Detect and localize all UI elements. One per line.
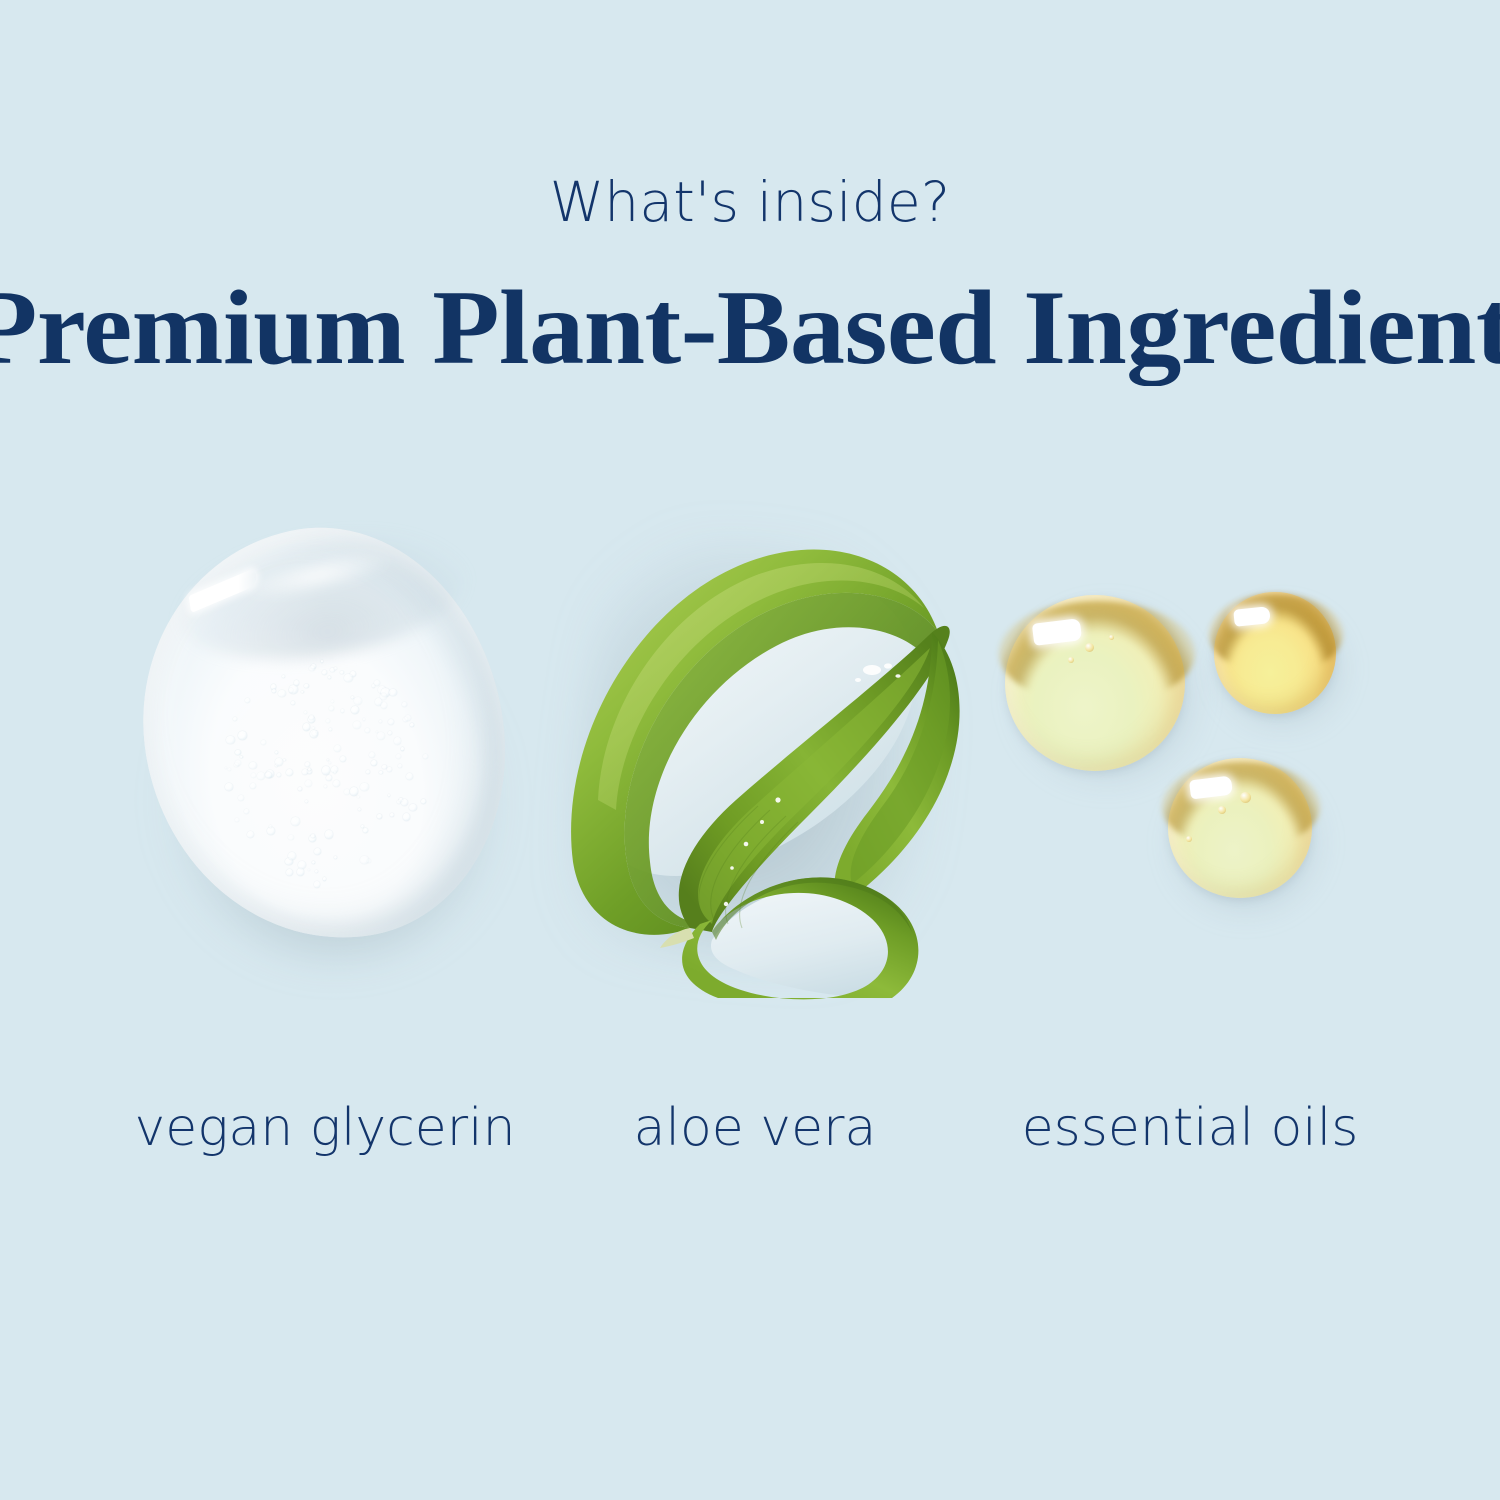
oil-microbubble	[1109, 635, 1114, 640]
gel-bubble	[329, 762, 331, 764]
gel-bubble	[304, 711, 307, 714]
gel-bubble	[314, 848, 321, 855]
oil-rim-large	[1005, 595, 1185, 771]
gel-bubble	[247, 831, 254, 838]
gel-bubble	[397, 800, 401, 804]
gel-bubble	[325, 830, 334, 839]
gel-bubble	[401, 799, 408, 806]
gel-bubble	[283, 759, 285, 761]
ingredient-image-essential-oils	[990, 570, 1370, 920]
gel-bubble	[331, 700, 334, 703]
oil-droplet-large	[1005, 595, 1185, 771]
gel-bubble	[226, 736, 235, 745]
gel-bubble	[377, 732, 385, 740]
gel-bubble	[278, 690, 285, 697]
ingredient-caption-vegan-glycerin: vegan glycerin	[75, 1098, 575, 1158]
gel-bubble	[324, 785, 327, 788]
gel-bubble	[272, 689, 276, 693]
gel-bubble	[277, 773, 281, 777]
gel-bubble	[261, 740, 266, 745]
gel-bubble	[381, 702, 388, 709]
gel-bubble	[249, 762, 256, 769]
gel-bubble	[390, 813, 395, 818]
gel-bubble	[402, 702, 407, 707]
gel-bubble	[311, 834, 314, 837]
gel-bubble	[304, 684, 309, 689]
gel-bubble	[328, 676, 331, 679]
gel-bubble	[298, 861, 306, 869]
gel-bubble	[305, 800, 308, 803]
gel-bubble	[235, 818, 239, 822]
gel-bubble	[394, 737, 402, 745]
gel-bubble	[340, 671, 344, 675]
gel-bubble	[235, 760, 242, 767]
oil-microbubble	[1186, 836, 1192, 842]
gel-bubble	[305, 762, 310, 767]
gel-bubble	[315, 870, 317, 872]
gel-bubble	[240, 756, 242, 758]
gel-bubble	[360, 856, 368, 864]
gel-bubble	[409, 804, 417, 812]
oil-microbubble	[1240, 792, 1251, 803]
gel-bubble	[363, 828, 369, 834]
ingredients-infographic: What's inside? Premium Plant-Based Ingre…	[0, 0, 1500, 1500]
gel-bubble	[388, 719, 394, 725]
gel-bubble	[294, 680, 300, 686]
gel-bubble	[333, 780, 340, 787]
gel-bubble	[379, 771, 382, 774]
gel-bubble	[244, 809, 249, 814]
gel-bubble	[326, 719, 330, 723]
gel-bubble	[301, 691, 303, 693]
gel-bubble	[288, 835, 293, 840]
gel-bubble	[305, 780, 312, 787]
gel-bubble	[225, 783, 232, 790]
gel-bubble	[314, 881, 321, 888]
gel-bubble	[340, 756, 346, 762]
gel-bubble	[358, 808, 361, 811]
gel-bubble	[389, 689, 396, 696]
gel-bubble	[309, 715, 314, 720]
gel-bubble	[406, 773, 414, 781]
gel-bubble	[374, 680, 380, 686]
gel-bubble	[309, 666, 314, 671]
gel-bubble	[369, 752, 375, 758]
gel-bubble	[322, 670, 327, 675]
gel-bubble	[388, 794, 390, 796]
eyebrow-text: What's inside?	[0, 170, 1500, 234]
gel-bubble	[365, 728, 370, 733]
gel-bubble	[238, 731, 247, 740]
gel-bubble	[379, 720, 382, 723]
gel-bubble	[228, 768, 231, 771]
ingredient-image-vegan-glycerin	[125, 510, 525, 980]
gel-bubble	[288, 852, 296, 860]
ingredient-caption-essential-oils: essential oils	[950, 1098, 1430, 1158]
oil-rim-small	[1214, 592, 1336, 714]
gel-bubble	[344, 674, 353, 683]
gel-bubble	[405, 715, 411, 721]
oil-droplet-medium	[1168, 758, 1312, 898]
gel-bubble	[410, 723, 414, 727]
gel-bubble	[341, 709, 345, 713]
gel-bubble	[291, 817, 300, 826]
gel-bubble	[286, 869, 293, 876]
ingredient-image-aloe-vera	[540, 500, 970, 1000]
gel-bubble	[398, 764, 402, 768]
gel-bubble	[233, 717, 237, 721]
gel-bubble	[245, 698, 250, 703]
gel-bubble	[326, 775, 332, 781]
gel-bubble	[353, 721, 361, 729]
gel-bubble	[403, 813, 410, 820]
gel-bubble	[401, 747, 405, 751]
gel-bubble	[334, 771, 337, 774]
ingredient-caption-aloe-vera: aloe vera	[555, 1098, 955, 1158]
gel-bubble	[377, 814, 382, 819]
gel-bubble	[380, 693, 387, 700]
gel-bubble	[351, 706, 359, 714]
gel-bubble	[235, 750, 240, 755]
gel-bubble	[396, 754, 402, 760]
gel-bubble	[334, 856, 337, 859]
gel-bubble	[303, 723, 311, 731]
gel-bubble	[334, 667, 337, 670]
gel-bubble	[312, 861, 315, 864]
gel-bubble-cluster	[225, 660, 425, 890]
gel-bubble	[388, 731, 392, 735]
gel-bubble	[382, 765, 386, 769]
oil-rim-medium	[1168, 758, 1312, 898]
gel-bubble	[282, 675, 285, 678]
page-title: Premium Plant-Based Ingredients	[0, 272, 1500, 383]
oil-microbubble	[1068, 657, 1074, 663]
gel-bubble	[302, 769, 308, 775]
gel-bubble	[251, 773, 256, 778]
gel-bubble	[357, 796, 359, 798]
gel-bubble	[421, 799, 426, 804]
gel-bubble	[329, 728, 331, 730]
gel-bubble	[291, 701, 295, 705]
gel-bubble	[321, 660, 323, 662]
gel-bubble	[360, 783, 368, 791]
gel-bubble	[387, 767, 391, 771]
gel-bubble	[329, 706, 334, 711]
gel-bubble	[238, 795, 244, 801]
gel-bubble	[334, 745, 341, 752]
gel-bubble	[297, 868, 305, 876]
oil-droplet-small	[1214, 592, 1336, 714]
aloe-leaf-icon	[540, 500, 970, 1000]
gel-bubble	[275, 751, 278, 754]
gel-bubble	[354, 697, 362, 705]
gel-bubble	[366, 770, 370, 774]
gel-bubble	[257, 772, 265, 780]
oil-microbubble	[1085, 643, 1094, 652]
gel-bubble	[298, 787, 302, 791]
gel-bubble	[312, 727, 315, 730]
gel-bubble	[323, 877, 326, 880]
gel-bubble	[275, 758, 283, 766]
oil-microbubble	[1218, 806, 1226, 814]
gel-bubble	[250, 783, 256, 789]
gel-bubble	[371, 760, 377, 766]
gel-bubble	[286, 769, 293, 776]
gel-bubble	[289, 688, 293, 692]
gel-bubble	[225, 767, 227, 769]
gel-bubble	[350, 787, 359, 796]
gel-bubble	[308, 869, 310, 871]
gel-bubble	[322, 766, 330, 774]
gel-bubble	[363, 718, 365, 720]
